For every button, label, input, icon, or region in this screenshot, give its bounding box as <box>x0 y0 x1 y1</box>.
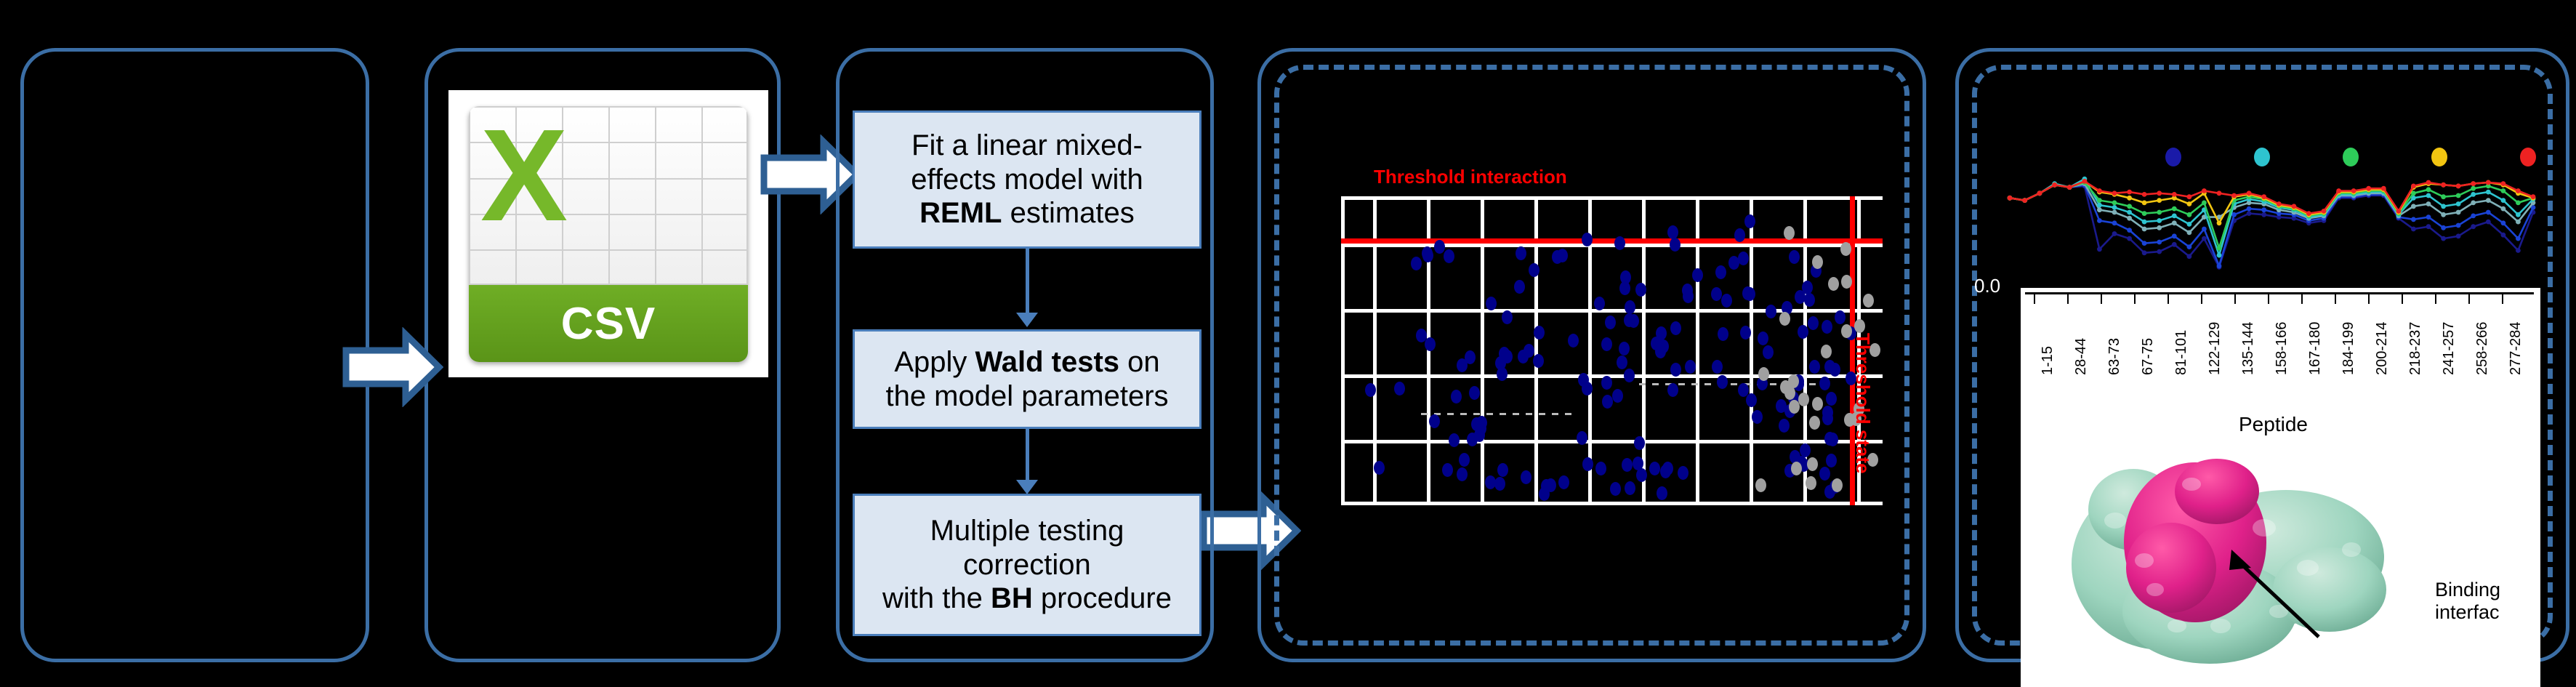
scatter-point <box>1717 375 1728 389</box>
scatter-point-significant <box>1812 255 1823 269</box>
scatter-point <box>1594 297 1605 310</box>
scatter-point <box>1789 250 1800 264</box>
scatter-point-significant <box>1780 380 1791 394</box>
peptide-tick-label: 81-101 <box>2173 330 2190 375</box>
scatter-point <box>1657 486 1667 500</box>
scatter-point <box>1524 344 1534 358</box>
scatter-point <box>1635 283 1646 297</box>
scatter-point <box>1712 360 1723 374</box>
scatter-point <box>1678 466 1689 480</box>
scatter-point <box>1682 284 1693 297</box>
scatter-point <box>1365 383 1376 397</box>
scatter-point <box>1649 462 1660 475</box>
scatter-point <box>1670 238 1681 252</box>
scatter-point <box>1467 433 1478 446</box>
legend-marker-series-green <box>2343 148 2359 166</box>
axis-tick <box>2268 292 2269 304</box>
legend-marker-series-yellow <box>2431 148 2447 166</box>
scatter-point <box>1835 310 1846 324</box>
scatter-point <box>1486 297 1497 310</box>
binding-line-2: interfac <box>2435 601 2500 624</box>
axis-tick <box>2234 292 2236 304</box>
peptide-tick-label: 184-199 <box>2340 322 2357 375</box>
peptide-tick-label: 67-75 <box>2140 338 2157 375</box>
scatter-point <box>1469 386 1480 400</box>
scatter-point <box>1610 482 1621 496</box>
scatter-point <box>1425 337 1436 351</box>
peptide-legend <box>2003 142 2544 172</box>
scatter-point <box>1715 265 1726 279</box>
peptide-tick-label: 158-166 <box>2274 322 2290 375</box>
scatter-point-significant <box>1854 319 1865 333</box>
scatter-point <box>1582 382 1593 395</box>
scatter-point <box>1422 249 1433 262</box>
peptide-tick-label: 218-237 <box>2407 322 2424 375</box>
scatter-point <box>1826 392 1837 406</box>
csv-tile: X CSV <box>448 90 768 377</box>
scatter-point <box>1457 467 1468 481</box>
axis-tick <box>2502 292 2503 304</box>
csv-format-band: CSV <box>469 285 748 362</box>
peptide-tick-label: 28-44 <box>2073 338 2090 375</box>
scatter-point <box>1662 462 1673 475</box>
step-multiple-testing-text: Multiple testingcorrectionwith the BH pr… <box>882 514 1172 615</box>
scatter-point-significant <box>1806 476 1816 490</box>
scatter-point <box>1800 443 1811 457</box>
scatter-point <box>1494 477 1505 491</box>
threshold-interaction-line <box>1341 238 1883 244</box>
scatter-point-significant <box>1779 312 1790 326</box>
peptide-tick-label: 167-180 <box>2307 322 2324 375</box>
scatter-point <box>1752 410 1763 424</box>
scatter-point <box>1601 376 1612 390</box>
scatter-point-significant <box>1828 277 1839 291</box>
threshold-scatter-plot <box>1341 196 1883 505</box>
binding-line-1: Binding <box>2435 579 2500 601</box>
scatter-point <box>1656 326 1667 340</box>
peptide-tick-label: 135-144 <box>2240 322 2257 375</box>
threshold-state-label: Threshold state <box>1851 333 1874 474</box>
scatter-point-significant <box>1791 462 1802 475</box>
scatter-point <box>1809 360 1820 374</box>
scatter-point <box>1738 252 1749 265</box>
scatter-point <box>1779 419 1790 433</box>
scatter-point-significant <box>1755 478 1766 492</box>
scatter-point <box>1798 325 1808 339</box>
scatter-point-significant <box>1841 275 1852 289</box>
legend-marker-series-dark-blue <box>2165 148 2181 166</box>
scatter-point <box>1602 395 1613 409</box>
scatter-point <box>1808 316 1819 330</box>
peptide-tick-label: 258-266 <box>2474 322 2491 375</box>
peptide-tick-label: 63-73 <box>2106 338 2123 375</box>
scatter-point <box>1819 377 1830 390</box>
scatter-point <box>1734 228 1745 242</box>
scatter-point-significant <box>1809 416 1820 430</box>
scatter-point <box>1742 286 1753 300</box>
peptide-tick-label: 1-15 <box>2040 346 2056 375</box>
step-fit-model: Fit a linear mixed-effects model withREM… <box>853 111 1202 249</box>
scatter-point <box>1740 326 1751 340</box>
axis-tick <box>2067 292 2069 304</box>
scatter-point-significant <box>1821 345 1832 358</box>
peptide-axis-card: 1-1528-4463-7367-7581-101122-129135-1441… <box>2021 288 2540 687</box>
scatter-point <box>1625 300 1635 314</box>
scatter-point <box>1582 457 1593 471</box>
scatter-point <box>1529 263 1539 277</box>
axis-tick <box>2101 292 2102 304</box>
scatter-point-significant <box>1841 324 1852 338</box>
scatter-point <box>1625 481 1635 495</box>
peptide-tick-label: 241-257 <box>2441 322 2458 375</box>
scatter-point <box>1824 360 1835 374</box>
scatter-point <box>1459 453 1470 467</box>
peptide-axis-title: Peptide <box>2239 413 2308 436</box>
axis-tick <box>2134 292 2136 304</box>
scatter-point <box>1718 327 1728 341</box>
scatter-point <box>1605 316 1616 329</box>
scatter-point <box>1394 382 1405 395</box>
scatter-point <box>1619 281 1630 295</box>
scatter-point <box>1374 461 1385 475</box>
scatter-point <box>1744 214 1755 228</box>
step-fit-model-text: Fit a linear mixed-effects model withREM… <box>911 129 1143 230</box>
scatter-point-significant <box>1832 478 1843 492</box>
legend-marker-series-red <box>2520 148 2536 166</box>
scatter-point <box>1721 294 1732 308</box>
arrow-input-to-data <box>342 327 443 407</box>
axis-tick <box>2301 292 2303 304</box>
scatter-point <box>1568 334 1579 347</box>
scatter-point <box>1804 293 1815 307</box>
scatter-point <box>1444 249 1454 263</box>
scatter-point <box>1634 436 1645 450</box>
peptide-series-t-blue <box>2010 185 2533 265</box>
scatter-point <box>1502 310 1513 324</box>
scatter-point <box>1667 383 1678 397</box>
scatter-point-significant <box>1812 397 1823 411</box>
protein-surface-render <box>2046 441 2431 666</box>
y-axis-zero-label: 0.0 <box>1974 275 2000 297</box>
scatter-point <box>1692 268 1703 282</box>
scatter-point <box>1624 369 1635 382</box>
step-wald-tests: Apply Wald tests onthe model parameters <box>853 329 1202 429</box>
scatter-point <box>1516 246 1526 260</box>
scatter-point <box>1449 433 1460 447</box>
axis-tick <box>2468 292 2470 304</box>
scatter-point <box>1471 417 1482 431</box>
scatter-point <box>1411 257 1422 270</box>
csv-format-label: CSV <box>561 298 656 350</box>
scatter-point <box>1685 360 1696 374</box>
scatter-point <box>1822 411 1833 425</box>
scatter-point-significant <box>1807 457 1818 471</box>
connector-1-head <box>1016 313 1038 327</box>
scatter-point-significant <box>1840 242 1851 256</box>
scatter-point <box>1521 470 1531 484</box>
scatter-point <box>1434 240 1445 254</box>
scatter-point-significant <box>1798 393 1809 406</box>
scatter-point <box>1451 390 1462 403</box>
scatter-point <box>1595 462 1606 475</box>
peptide-tick-label: 200-214 <box>2374 322 2391 375</box>
scatter-point <box>1541 479 1552 493</box>
scatter-point <box>1617 355 1627 369</box>
scatter-point <box>1582 233 1593 246</box>
axis-tick <box>2034 292 2035 304</box>
scatter-point <box>1628 314 1639 328</box>
scatter-point <box>1533 354 1544 368</box>
scatter-point <box>1612 389 1623 403</box>
scatter-point <box>1795 290 1806 304</box>
scatter-point <box>1429 414 1440 428</box>
scatter-point <box>1670 321 1681 335</box>
csv-file-icon[interactable]: X CSV <box>469 106 748 362</box>
scatter-point <box>1826 454 1837 467</box>
scatter-point <box>1827 433 1838 446</box>
connector-2 <box>1026 429 1029 487</box>
scatter-point <box>1457 358 1468 372</box>
axis-tick <box>2335 292 2336 304</box>
scatter-point <box>1763 345 1774 359</box>
scatter-point <box>1711 287 1722 301</box>
axis-tick <box>2201 292 2202 304</box>
axis-tick <box>2402 292 2403 304</box>
scatter-point <box>1670 363 1681 377</box>
axis-tick <box>2168 292 2169 304</box>
peptide-tick-label: 122-129 <box>2207 322 2223 375</box>
input-panel <box>20 48 369 662</box>
legend-marker-series-cyan <box>2254 148 2270 166</box>
scatter-point <box>1497 463 1508 477</box>
scatter-point <box>1758 332 1768 345</box>
scatter-point <box>1557 249 1568 262</box>
scatter-point <box>1766 305 1776 318</box>
scatter-point <box>1622 458 1633 472</box>
scatter-point <box>1619 342 1630 355</box>
scatter-point <box>1514 280 1525 294</box>
scatter-point <box>1534 326 1545 340</box>
binding-interface-annotation: Binding interfac <box>2435 579 2500 624</box>
scatter-point-significant <box>1784 226 1795 240</box>
scatter-point <box>1655 345 1666 358</box>
threshold-interaction-label: Threshold interaction <box>1374 166 1567 188</box>
scatter-point <box>1667 225 1678 239</box>
scatter-point <box>1601 337 1612 351</box>
axis-tick <box>2435 292 2436 304</box>
scatter-point <box>1558 475 1569 489</box>
scatter-point <box>1819 467 1830 481</box>
peptide-tick-label: 277-284 <box>2508 322 2524 375</box>
connector-1 <box>1026 249 1029 320</box>
scatter-point <box>1614 236 1625 250</box>
scatter-point-significant <box>1758 367 1769 381</box>
scatter-point-significant <box>1863 294 1874 308</box>
excel-x-glyph: X <box>480 111 568 241</box>
scatter-point <box>1633 457 1643 470</box>
scatter-point <box>1746 393 1757 407</box>
step-multiple-testing: Multiple testingcorrectionwith the BH pr… <box>853 494 1202 636</box>
connector-2-head <box>1016 480 1038 494</box>
step-wald-tests-text: Apply Wald tests onthe model parameters <box>885 345 1168 413</box>
scatter-point <box>1495 356 1506 370</box>
scatter-point <box>1577 431 1587 445</box>
axis-tick <box>2368 292 2370 304</box>
scatter-point <box>1442 463 1453 477</box>
scatter-point <box>1822 320 1832 334</box>
